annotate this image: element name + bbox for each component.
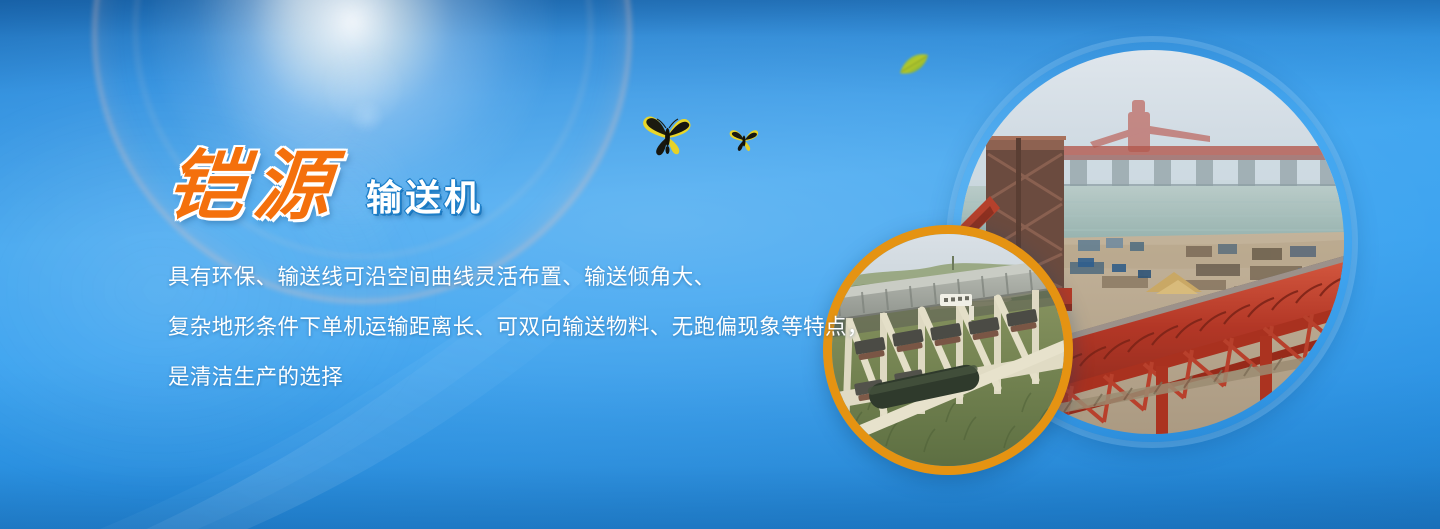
description-line-1: 具有环保、输送线可沿空间曲线灵活布置、输送倾角大、 [168,252,968,302]
leaf-icon [897,52,931,78]
description-line-2: 复杂地形条件下单机运输距离长、可双向输送物料、无跑偏现象等特点， [168,302,968,352]
headline-group: 铠源 输送机 [168,148,483,224]
product-name: 输送机 [366,180,483,216]
lens-flare-bubble-small-icon [350,100,384,134]
description-line-3: 是清洁生产的选择 [168,352,968,402]
brand-name: 铠源 [165,148,344,224]
butterfly-icon [641,110,695,158]
description-block: 具有环保、输送线可沿空间曲线灵活布置、输送倾角大、 复杂地形条件下单机运输距离长… [168,252,968,402]
promo-banner: 铠源 输送机 具有环保、输送线可沿空间曲线灵活布置、输送倾角大、 复杂地形条件下… [0,0,1440,529]
butterfly-icon [729,126,759,152]
